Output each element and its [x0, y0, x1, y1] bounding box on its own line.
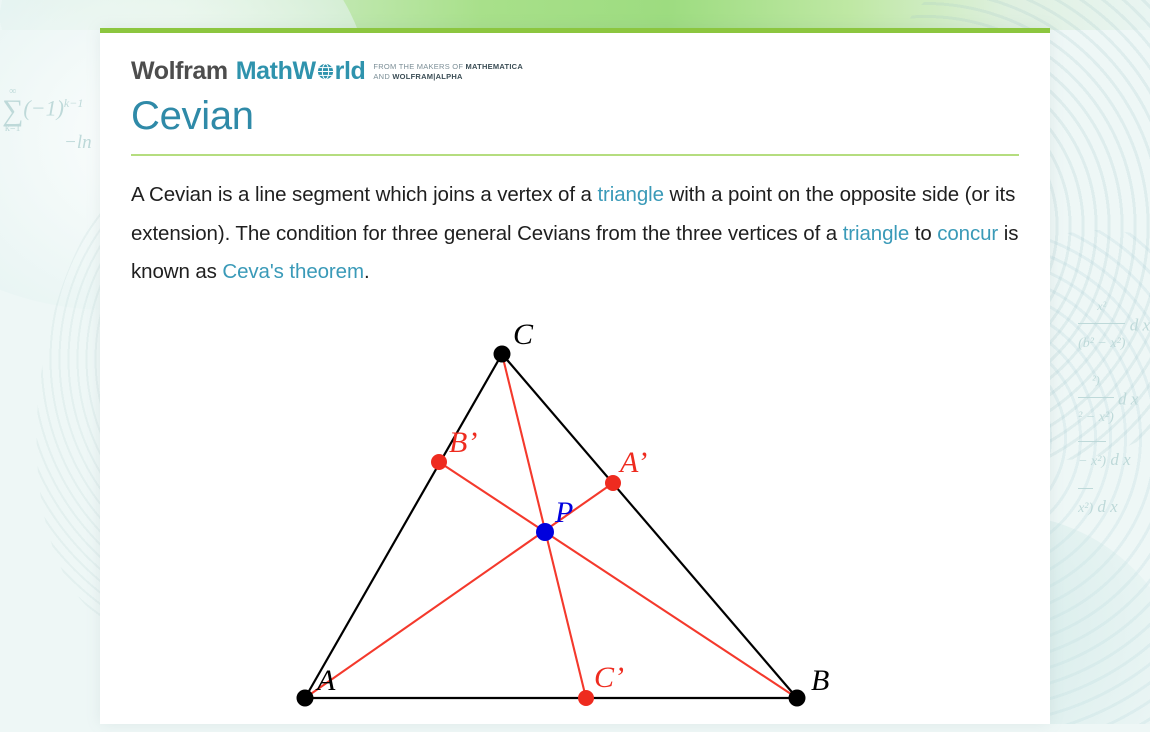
decor-formula-tail: −ln — [64, 131, 92, 155]
vertex-C — [494, 346, 511, 363]
label-B-prime: B’ — [449, 426, 477, 459]
decor-right-row: ²)² − x²) d x — [1078, 364, 1150, 438]
article-body: A Cevian is a line segment which joins a… — [131, 176, 1019, 292]
decor-right-row: x²) d x — [1078, 484, 1150, 531]
logo-tagline: FROM THE MAKERS OF MATHEMATICA AND WOLFR… — [373, 62, 523, 82]
point-C-prime — [578, 690, 594, 706]
decor-den: (b² − x²) — [1078, 323, 1125, 364]
cevian-points — [431, 454, 621, 706]
decor-num: ²) — [1078, 364, 1114, 397]
decor-sigma-glyph: ∑ — [2, 99, 23, 123]
logo-mathw-part: MathW — [236, 59, 316, 84]
decor-dx: d x — [1130, 316, 1150, 335]
decor-den: − x²) — [1078, 441, 1106, 482]
tagline-line-2: AND WOLFRAM|ALPHA — [373, 72, 462, 81]
tagline-2-bold: WOLFRAM|ALPHA — [392, 72, 462, 81]
page-title: Cevian — [131, 94, 1019, 138]
body-sentence-1: A Cevian is a line segment which joins a… — [131, 183, 597, 206]
vertex-B — [789, 690, 806, 707]
title-divider — [131, 154, 1019, 156]
decor-den: ² − x²) — [1078, 397, 1114, 438]
label-C: C — [513, 318, 534, 351]
site-logo[interactable]: Wolfram MathW rld — [131, 33, 1019, 84]
decor-right-row: x²(b² − x²) d x — [1078, 290, 1150, 364]
body-sentence-5: . — [364, 260, 370, 283]
point-A-prime — [605, 475, 621, 491]
tagline-1-plain: FROM THE MAKERS OF — [373, 62, 465, 71]
background-formula-right: x²(b² − x²) d x ²)² − x²) d x − x²) d x … — [1078, 290, 1150, 531]
body-sentence-3: to — [909, 222, 937, 245]
decor-formula-body: (−1) — [23, 96, 64, 121]
link-triangle-1[interactable]: triangle — [597, 183, 663, 206]
decor-dx: d x — [1118, 389, 1138, 408]
label-P: P — [554, 496, 573, 529]
globe-icon — [317, 63, 334, 80]
content-card: Wolfram MathW rld — [100, 28, 1050, 724]
point-P — [536, 523, 554, 541]
decor-sigma-bottom: k=1 — [2, 123, 23, 136]
side-CA — [305, 354, 502, 698]
decor-dx: d x — [1097, 497, 1117, 516]
tagline-1-bold: MATHEMATICA — [466, 62, 523, 71]
label-B: B — [811, 664, 829, 697]
label-C-prime: C’ — [594, 661, 624, 694]
cevian-diagram: C A B B’ A’ C’ P — [131, 312, 1019, 732]
link-cevas-theorem[interactable]: Ceva's theorem — [222, 260, 364, 283]
label-A: A — [315, 664, 336, 697]
label-A-prime: A’ — [618, 446, 647, 479]
link-triangle-2[interactable]: triangle — [843, 222, 909, 245]
decor-num: x² — [1078, 290, 1125, 323]
logo-rld-part: rld — [335, 59, 366, 84]
logo-mathworld-text: MathW rld — [236, 59, 366, 84]
decor-den: x²) — [1078, 488, 1093, 529]
logo-wolfram-text: Wolfram — [131, 59, 228, 84]
vertex-A — [297, 690, 314, 707]
tagline-2-plain: AND — [373, 72, 392, 81]
tagline-line-1: FROM THE MAKERS OF MATHEMATICA — [373, 62, 523, 71]
cevian-diagram-svg: C A B B’ A’ C’ P — [131, 312, 1019, 730]
decor-formula-exp: k−1 — [64, 96, 83, 110]
decor-right-row: − x²) d x — [1078, 437, 1150, 484]
background-formula-left: ∞ ∑ k=1 (−1)k−1 −ln — [2, 86, 92, 155]
point-B-prime — [431, 454, 447, 470]
decor-dx: d x — [1110, 450, 1130, 469]
link-concur[interactable]: concur — [937, 222, 998, 245]
